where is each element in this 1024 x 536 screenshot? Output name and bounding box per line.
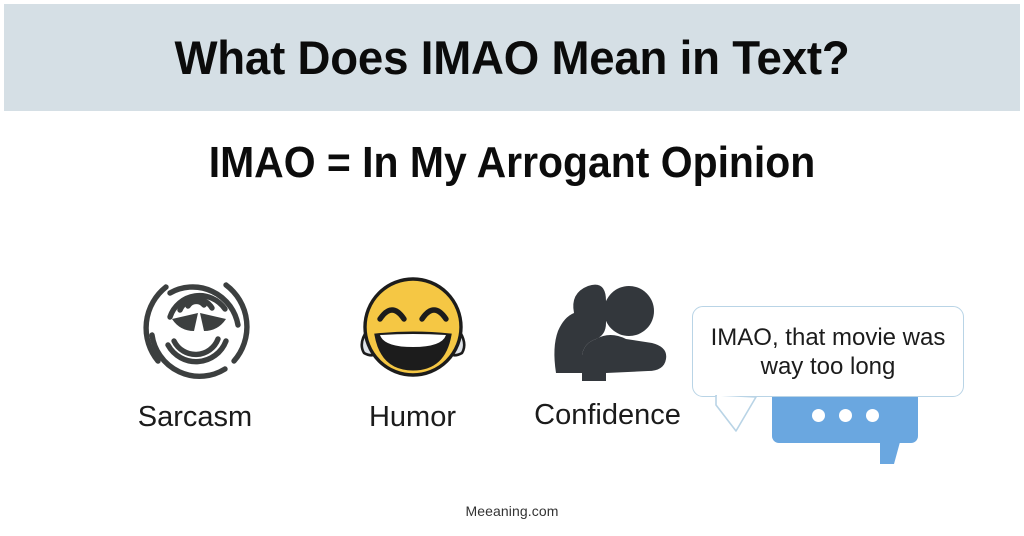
header-band: What Does IMAO Mean in Text? [4, 4, 1020, 111]
message-bubble: IMAO, that movie was way too long [692, 306, 964, 397]
humor-icon-wrap [325, 268, 500, 388]
tone-item-confidence: Confidence [515, 268, 700, 432]
sarcasm-spiral-face-icon [130, 269, 260, 387]
message-line-2: way too long [761, 353, 896, 380]
chat-example: IMAO, that movie was way too long [690, 300, 990, 470]
tone-item-sarcasm: Sarcasm [100, 268, 290, 434]
acronym-definition: IMAO = In My Arrogant Opinion [36, 138, 988, 188]
sarcasm-left-eye [172, 313, 198, 331]
message-line-1: IMAO, that movie was [711, 324, 946, 351]
page-title: What Does IMAO Mean in Text? [174, 30, 849, 85]
message-bubble-tail-icon [714, 395, 758, 433]
tone-item-humor: Humor [325, 268, 500, 434]
typing-dot [839, 409, 852, 422]
typing-dot [866, 409, 879, 422]
source-watermark: Meeaning.com [0, 503, 1024, 519]
tone-label-humor: Humor [325, 388, 500, 434]
flexing-arm-silhouette-icon [544, 269, 672, 387]
tone-label-sarcasm: Sarcasm [100, 388, 290, 434]
confidence-icon-wrap [515, 268, 700, 388]
sarcasm-icon-wrap [100, 268, 290, 388]
face-with-tears-of-joy-icon [354, 273, 472, 383]
tone-label-confidence: Confidence [515, 388, 700, 432]
infographic-canvas: What Does IMAO Mean in Text? IMAO = In M… [0, 0, 1024, 536]
sarcasm-right-eye [200, 313, 226, 331]
typing-dot [812, 409, 825, 422]
message-bubble-text: IMAO, that movie was way too long [699, 323, 958, 381]
